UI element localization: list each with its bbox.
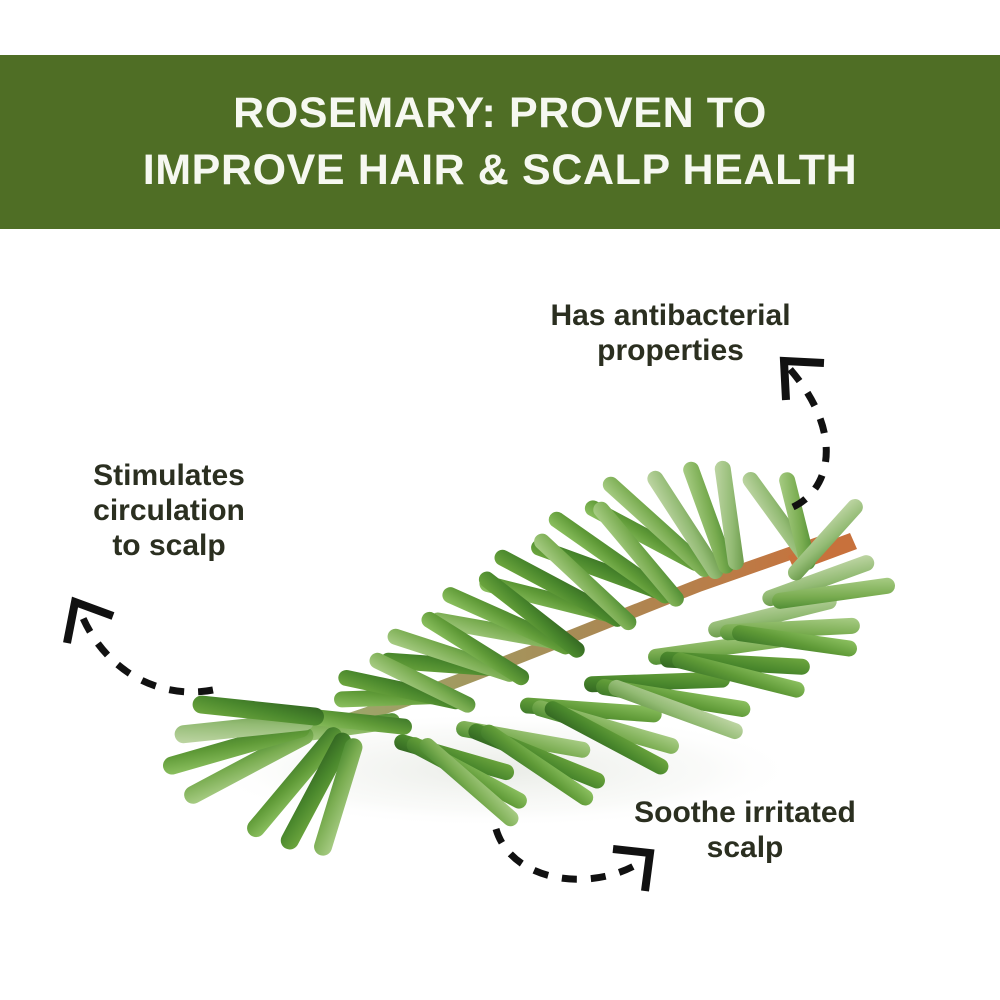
annotation-antibacterial-line-2: properties	[503, 333, 838, 368]
annotation-label-antibacterial: Has antibacterial properties	[503, 298, 838, 368]
annotation-soothe-line-1: Soothe irritated	[580, 795, 910, 830]
annotation-circulation-line-1: Stimulates	[38, 458, 300, 493]
annotation-label-soothe: Soothe irritated scalp	[580, 795, 910, 865]
annotation-label-layer: Has antibacterial properties Stimulates …	[0, 0, 1000, 1000]
annotation-circulation-line-3: to scalp	[38, 528, 300, 563]
rosemary-infographic: ROSEMARY: PROVEN TO IMPROVE HAIR & SCALP…	[0, 0, 1000, 1000]
annotation-label-circulation: Stimulates circulation to scalp	[38, 458, 300, 563]
annotation-circulation-line-2: circulation	[38, 493, 300, 528]
annotation-soothe-line-2: scalp	[580, 830, 910, 865]
annotation-antibacterial-line-1: Has antibacterial	[503, 298, 838, 333]
